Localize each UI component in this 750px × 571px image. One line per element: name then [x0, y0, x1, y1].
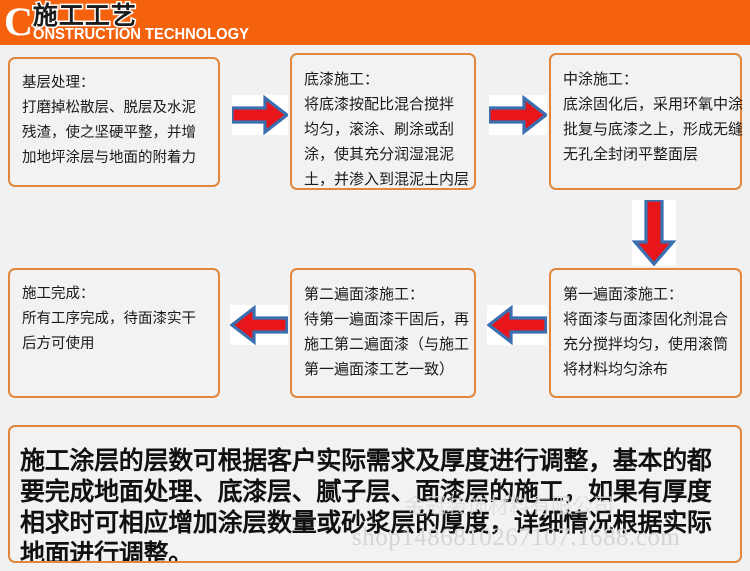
step-box-base-treatment: 基层处理： 打磨掉松散层、脱层及水泥 残渣，使之坚硬平整，并增 加地坪涂层与地面… — [8, 57, 220, 187]
logo: C 施工工艺 ONSTRUCTION TECHNOLOGY — [4, 2, 268, 43]
logo-initial-letter: C — [4, 2, 33, 42]
step-line: 第一遍面漆工艺一致） — [304, 357, 462, 382]
step-box-second-topcoat-construction: 第二遍面漆施工： 待第一遍面漆干固后，再 施工第二遍面漆（与施工 第一遍面漆工艺… — [290, 268, 476, 398]
arrow-right-icon — [489, 95, 547, 135]
summary-line: 相求时可相应增加涂层数量或砂浆层的厚度，详细情况根据实际 — [20, 507, 732, 538]
step-line: 打磨掉松散层、脱层及水泥 — [22, 96, 206, 121]
step-line: 待第一遍面漆干固后，再 — [304, 307, 462, 332]
step-line: 后方可使用 — [22, 332, 206, 357]
step-box-middle-coat-construction: 中涂施工： 底涂固化后，采用环氧中涂 批复与底漆之上，形成无缝 无孔全封闭平整面… — [549, 53, 742, 190]
step-line: 批复与底漆之上，形成无缝 — [563, 117, 728, 142]
arrow-right-icon — [232, 95, 288, 135]
summary-line: 施工涂层的层数可根据客户实际需求及厚度进行调整，基本的都 — [20, 445, 732, 476]
step-line: 所有工序完成，待面漆实干 — [22, 307, 206, 332]
logo-text-group: 施工工艺 ONSTRUCTION TECHNOLOGY — [33, 3, 268, 43]
step-line: 加地坪涂层与地面的附着力 — [22, 146, 206, 171]
summary-line: 要完成地面处理、底漆层、腻子层、面漆层的施工，如果有厚度 — [20, 476, 732, 507]
step-line: 底漆施工： — [304, 67, 462, 92]
step-line: 充分搅拌均匀，使用滚筒 — [563, 332, 728, 357]
step-line: 第一遍面漆施工： — [563, 282, 728, 307]
arrow-left-icon — [487, 305, 547, 345]
step-line: 将底漆按配比混合搅拌 — [304, 92, 462, 117]
summary-panel: 施工涂层的层数可根据客户实际需求及厚度进行调整，基本的都 要完成地面处理、底漆层… — [8, 425, 742, 563]
step-line: 土，并渗入到混泥土内层 — [304, 167, 462, 192]
step-box-primer-construction: 底漆施工： 将底漆按配比混合搅拌 均匀，滚涂、刷涂或刮 涂，使其充分润湿混泥 土… — [290, 53, 476, 190]
step-box-first-topcoat-construction: 第一遍面漆施工： 将面漆与面漆固化剂混合 充分搅拌均匀，使用滚筒 将材料均匀涂布 — [549, 268, 742, 398]
step-box-construction-complete: 施工完成： 所有工序完成，待面漆实干 后方可使用 — [8, 268, 220, 398]
step-line: 施工完成： — [22, 282, 206, 307]
summary-line: 地面进行调整。 — [20, 538, 732, 563]
step-line: 中涂施工： — [563, 67, 728, 92]
step-line: 残渣，使之坚硬平整，并增 — [22, 121, 206, 146]
logo-title-chinese: 施工工艺 — [33, 3, 268, 28]
page-header: C 施工工艺 ONSTRUCTION TECHNOLOGY — [0, 0, 750, 45]
step-line: 涂，使其充分润湿混泥 — [304, 142, 462, 167]
step-line: 均匀，滚涂、刷涂或刮 — [304, 117, 462, 142]
step-line: 第二遍面漆施工： — [304, 282, 462, 307]
arrow-left-icon — [230, 305, 288, 345]
step-line: 将面漆与面漆固化剂混合 — [563, 307, 728, 332]
step-line: 将材料均匀涂布 — [563, 357, 728, 382]
logo-title-english: ONSTRUCTION TECHNOLOGY — [33, 26, 249, 43]
step-line: 施工第二遍面漆（与施工 — [304, 332, 462, 357]
step-line: 底涂固化后，采用环氧中涂 — [563, 92, 728, 117]
arrow-down-icon — [632, 200, 676, 266]
step-line: 无孔全封闭平整面层 — [563, 142, 728, 167]
step-line: 基层处理： — [22, 71, 206, 96]
